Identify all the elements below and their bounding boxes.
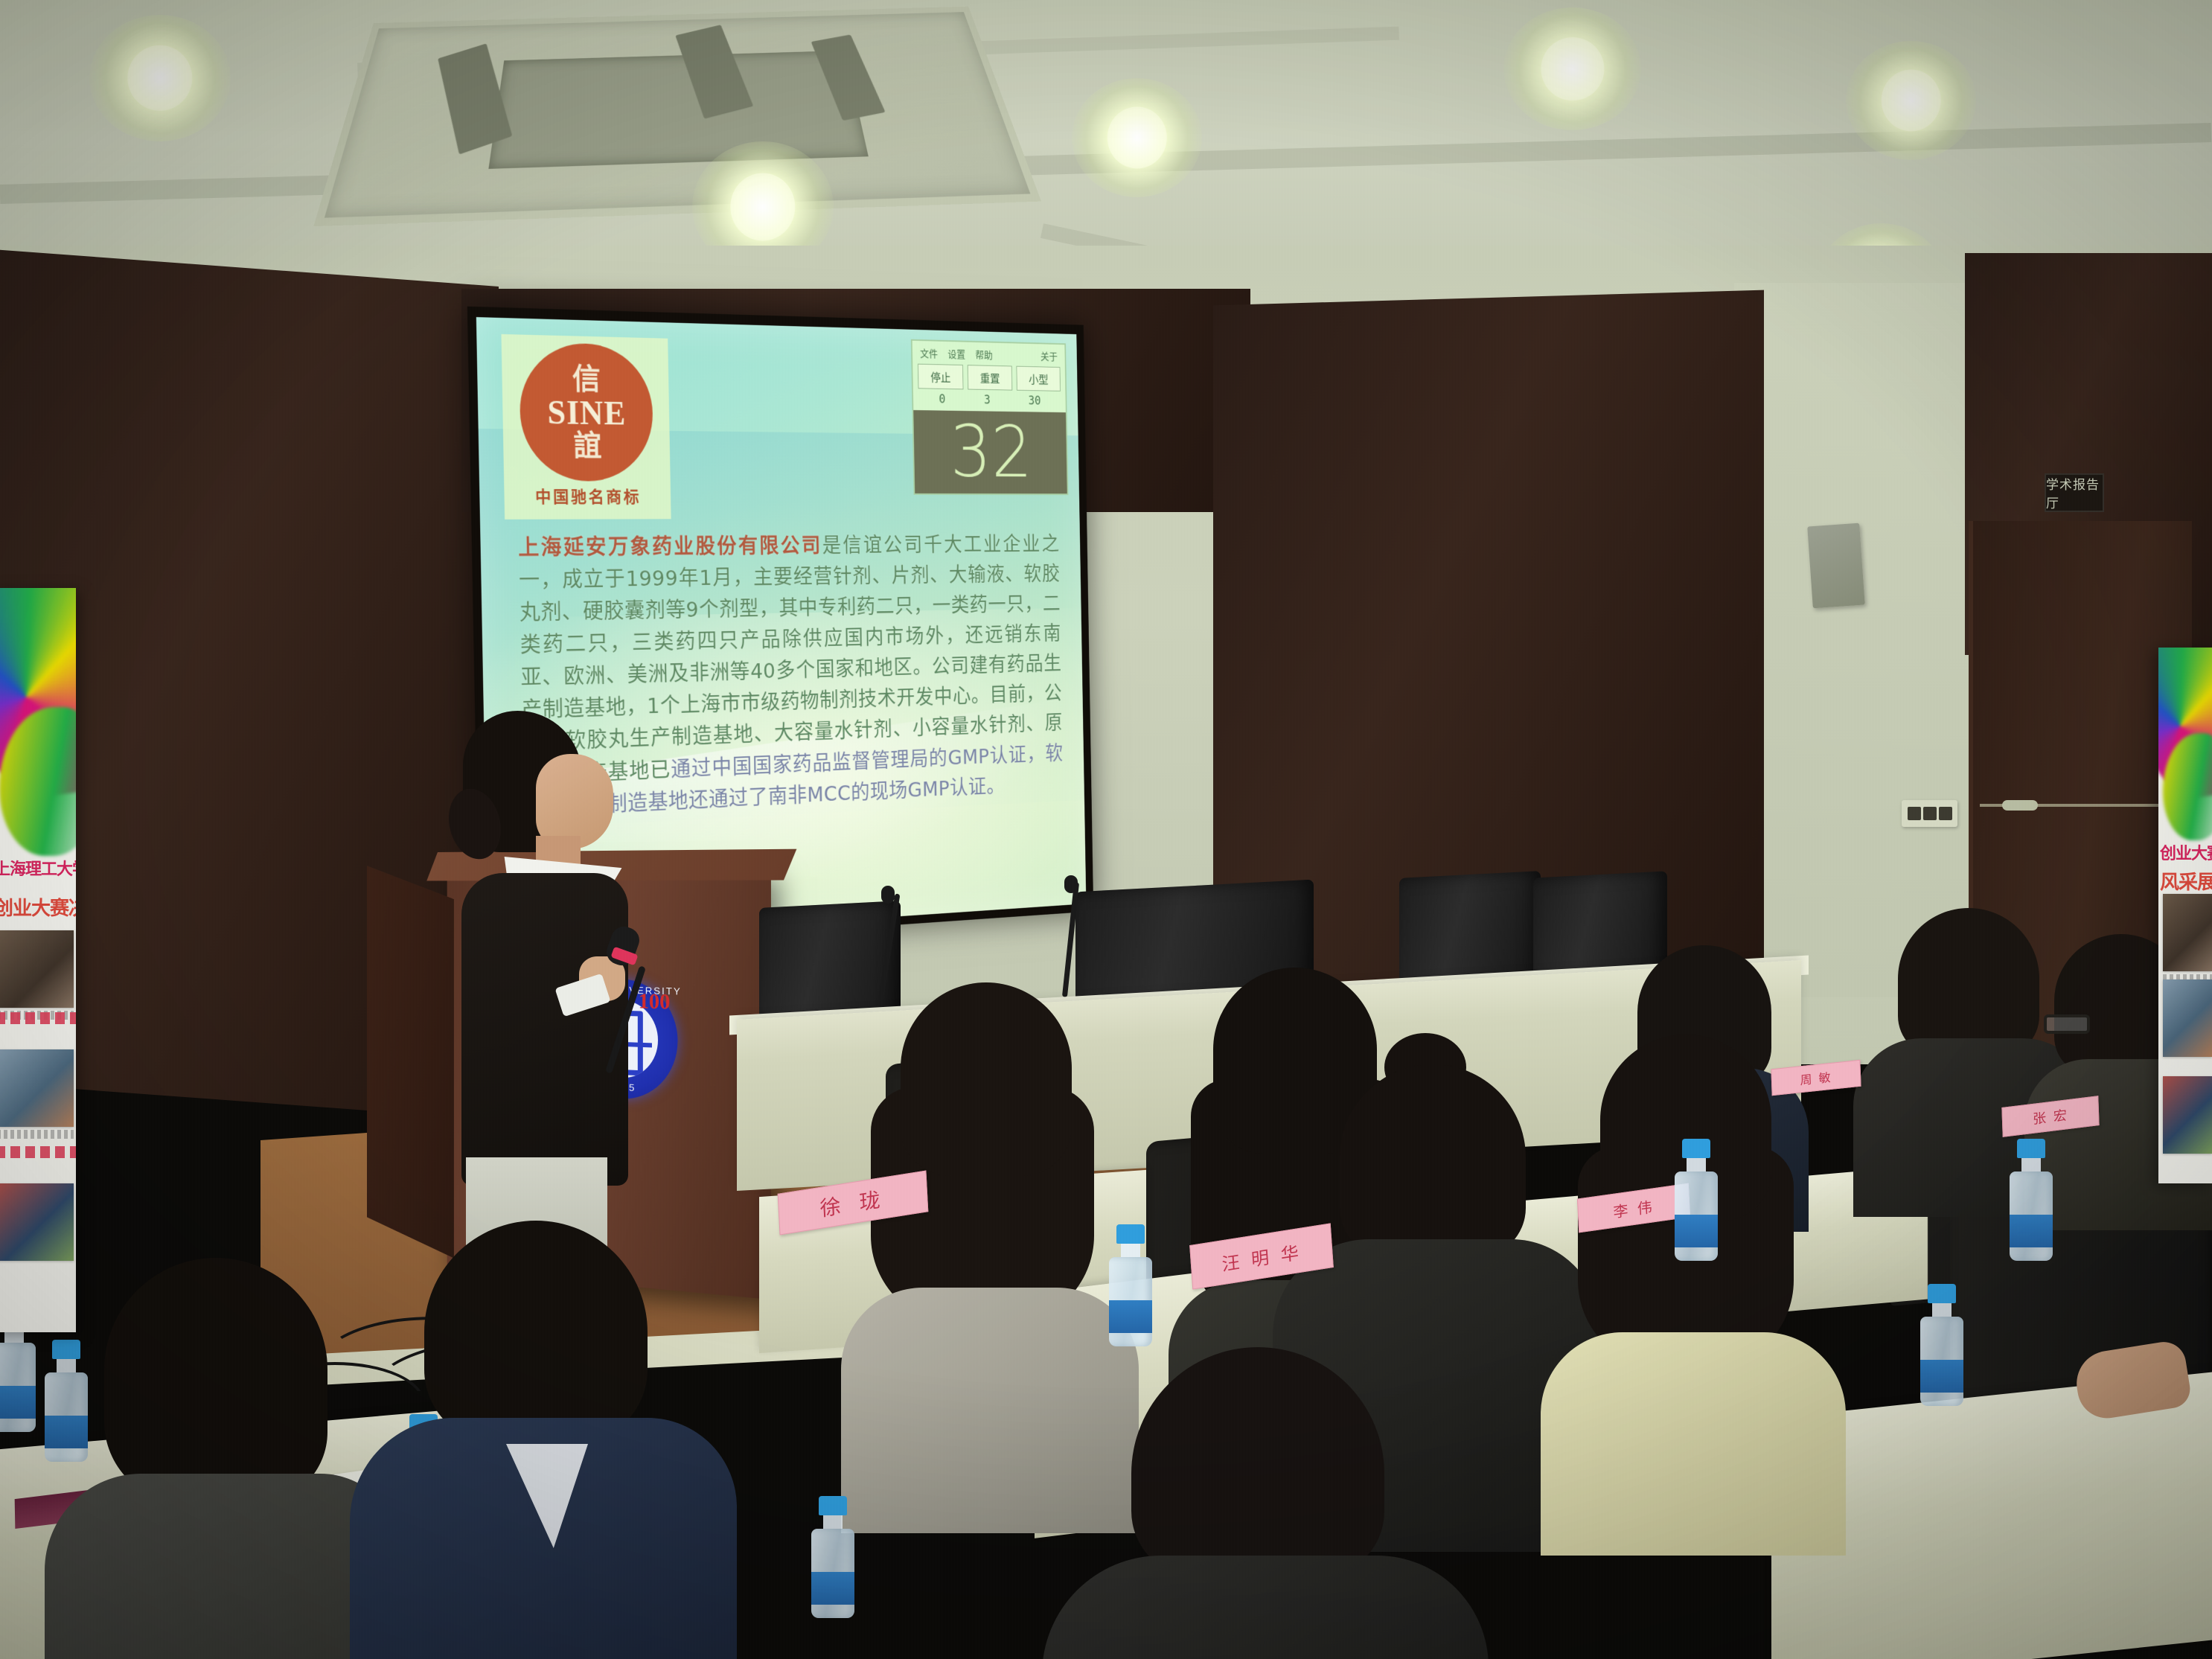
timer-stop-button[interactable]: 停止 <box>918 364 963 390</box>
banner-photo <box>2163 894 2212 971</box>
presenter-person <box>447 711 640 1276</box>
door-handle-icon[interactable] <box>2002 800 2038 811</box>
water-bottle <box>1920 1284 1963 1406</box>
bottle-label <box>1675 1215 1718 1247</box>
banner-subtitle: 风采展示 <box>2160 867 2212 895</box>
light-switch-rocker[interactable] <box>1939 807 1952 820</box>
timer-menu-help[interactable]: 帮助 <box>975 348 993 362</box>
foreground-person-right <box>1042 1347 1459 1659</box>
timer-hours-field[interactable]: 0 <box>939 392 946 406</box>
foreground-person-center <box>357 1221 707 1659</box>
slide-company-name: 上海延安万象药业股份有限公司 <box>518 534 822 560</box>
presenter-face <box>536 754 613 849</box>
ceiling-downlight <box>1503 7 1641 130</box>
audience-torso <box>1541 1332 1846 1556</box>
fudan-centennial-mark: 100 <box>639 993 670 1011</box>
presenter-blazer <box>461 873 628 1186</box>
ceiling-downlight <box>1072 78 1202 197</box>
timer-reset-button[interactable]: 重置 <box>968 365 1012 390</box>
audience-hair <box>901 982 1072 1176</box>
ceiling-air-conditioner-icon <box>313 7 1041 226</box>
banner-red-text-line <box>0 1146 76 1158</box>
room-plaque-label: 学术报告厅 <box>2046 474 2103 511</box>
gooseneck-mic-head-icon <box>881 886 895 904</box>
podium-side-panel <box>367 866 454 1258</box>
light-switch-rocker[interactable] <box>1908 807 1921 820</box>
bottle-cap <box>1116 1224 1145 1244</box>
wall-speaker-icon <box>1807 523 1865 609</box>
ceiling-downlight <box>1846 41 1976 160</box>
rollup-banner-right: 创业大赛 风采展示 <box>2158 648 2212 1183</box>
timer-seconds-field[interactable]: 30 <box>1028 394 1041 409</box>
timer-menu-about[interactable]: 关于 <box>1041 350 1058 364</box>
banner-subtitle: 创业大赛决赛 <box>0 893 76 921</box>
banner-photo <box>2163 1076 2212 1154</box>
banner-photo <box>0 1049 74 1127</box>
audience-hair <box>1898 908 2039 1057</box>
room-number-plaque: 学术报告厅 <box>2045 473 2104 512</box>
banner-photo <box>0 930 74 1008</box>
timer-button-row[interactable]: 停止 重置 小型 <box>918 364 1061 391</box>
bottle-label <box>0 1386 36 1419</box>
foreground-hair <box>424 1221 648 1444</box>
rollup-banner-left: 上海理工大学 创业大赛决赛 <box>0 588 76 1332</box>
bottle-cap <box>2017 1139 2045 1158</box>
water-bottle <box>811 1496 854 1618</box>
timer-size-button[interactable]: 小型 <box>1016 366 1060 391</box>
foreground-person-left <box>45 1258 394 1659</box>
timer-countdown-display: 32 <box>913 410 1067 493</box>
audience-person <box>1526 1035 1838 1511</box>
bottle-cap <box>1682 1139 1710 1158</box>
ac-vent-1 <box>438 44 513 155</box>
sine-logo-block: 信 SINE 誼 中国驰名商标 <box>501 334 671 520</box>
banner-title: 创业大赛 <box>2160 840 2212 864</box>
gooseneck-mic-head-icon <box>1064 875 1078 893</box>
ceiling-downlight <box>89 15 231 141</box>
sine-logo-caption: 中国驰名商标 <box>535 484 642 508</box>
foreground-torso <box>1042 1556 1489 1659</box>
audience-hair <box>1340 1064 1526 1258</box>
timer-menu-settings[interactable]: 设置 <box>947 347 965 361</box>
bottle-label <box>811 1572 854 1605</box>
conference-room-photo: 学术报告厅 信 SINE 誼 中国驰名商标 <box>0 0 2212 1659</box>
bottle-label <box>1109 1300 1152 1333</box>
banner-photo <box>2163 979 2212 1057</box>
bottle-cap <box>819 1496 847 1515</box>
ac-intake-grille <box>489 51 869 169</box>
banner-red-text-line <box>0 1012 76 1024</box>
banner-photo <box>0 1183 74 1261</box>
eyeglasses-icon <box>2044 1014 2090 1034</box>
timer-minutes-field[interactable]: 3 <box>984 393 991 407</box>
banner-title: 上海理工大学 <box>0 856 76 880</box>
foreground-hair <box>104 1258 327 1503</box>
light-switch-panel[interactable] <box>1902 800 1957 827</box>
water-bottle <box>1675 1139 1718 1261</box>
bottle-label <box>1920 1360 1963 1393</box>
foreground-hair <box>1131 1347 1384 1578</box>
water-bottle <box>2010 1139 2053 1261</box>
light-switch-rocker[interactable] <box>1923 807 1937 820</box>
sine-seal-top-char: 信 <box>572 364 601 394</box>
banner-photo-caption <box>0 1130 74 1139</box>
sine-seal-wordmark: SINE <box>547 395 626 430</box>
timer-countdown-value: 32 <box>950 420 1033 485</box>
timer-menu-file[interactable]: 文件 <box>920 346 938 360</box>
sine-seal-icon: 信 SINE 誼 <box>523 347 650 477</box>
presentation-timer-widget[interactable]: 文件 设置 帮助 关于 停止 重置 小型 0 3 30 32 <box>911 339 1069 495</box>
bottle-label <box>2010 1215 2053 1247</box>
water-bottle <box>1109 1224 1152 1346</box>
timer-field-row[interactable]: 0 3 30 <box>918 389 1061 412</box>
bottle-cap <box>1928 1284 1956 1303</box>
foreground-torso <box>45 1474 402 1659</box>
sine-seal-bottom-char: 誼 <box>573 431 602 461</box>
